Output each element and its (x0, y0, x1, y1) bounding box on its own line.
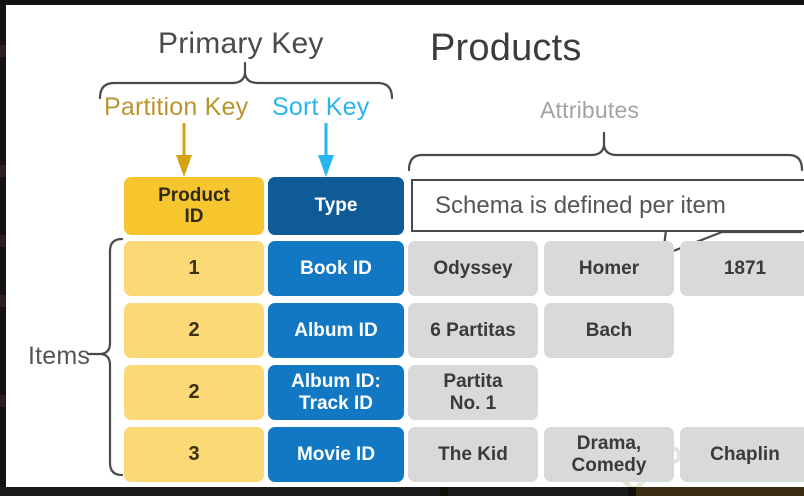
table-cell-attribute: Bach (544, 303, 674, 358)
attributes-label: Attributes (540, 97, 639, 124)
primary-key-label: Primary Key (158, 27, 324, 61)
table-cell-attribute: 6 Partitas (408, 303, 538, 358)
items-brace-icon (88, 239, 122, 475)
table-cell-attribute-line1: Partita (443, 371, 502, 392)
table-cell-type: Album ID: Track ID (268, 365, 404, 420)
table-cell-type: Album ID (268, 303, 404, 358)
table-cell-attribute: Homer (544, 241, 674, 296)
table-cell-attribute: Partita No. 1 (408, 365, 538, 420)
table-cell-attribute: Drama, Comedy (544, 427, 674, 482)
table-header-product-id: Product ID (124, 177, 264, 235)
table-row: 1 (124, 241, 264, 296)
partition-key-arrow-icon (176, 123, 192, 177)
table-cell-type: Movie ID (268, 427, 404, 482)
table-header-product-id-line2: ID (185, 206, 204, 227)
attributes-brace-icon (409, 133, 802, 170)
partition-key-label: Partition Key (104, 93, 248, 122)
slide-stage: Platzi (0, 0, 804, 496)
table-row: 2 (124, 303, 264, 358)
table-cell-attribute: The Kid (408, 427, 538, 482)
table-row: 3 (124, 427, 264, 482)
slide-canvas: Platzi (6, 5, 804, 487)
table-cell-type-line2: Track ID (299, 393, 373, 414)
table-row: 2 (124, 365, 264, 420)
table-cell-attribute-line2: No. 1 (450, 393, 496, 414)
table-cell-attribute: Chaplin (680, 427, 804, 482)
table-cell-attribute: Odyssey (408, 241, 538, 296)
sort-key-label: Sort Key (272, 93, 369, 122)
table-header-type: Type (268, 177, 404, 235)
table-cell-attribute-line1: Drama, (577, 433, 641, 454)
player-bottom-bar (0, 487, 804, 496)
page-title: Products (430, 27, 582, 70)
table-cell-type-line1: Album ID: (291, 371, 381, 392)
table-cell-attribute: 1871 (680, 241, 804, 296)
sort-key-arrow-icon (318, 123, 334, 177)
schema-callout: Schema is defined per item (411, 179, 804, 232)
table-cell-type: Book ID (268, 241, 404, 296)
table-header-product-id-line1: Product (158, 185, 230, 206)
table-cell-attribute-line2: Comedy (572, 455, 647, 476)
items-label: Items (28, 342, 90, 371)
